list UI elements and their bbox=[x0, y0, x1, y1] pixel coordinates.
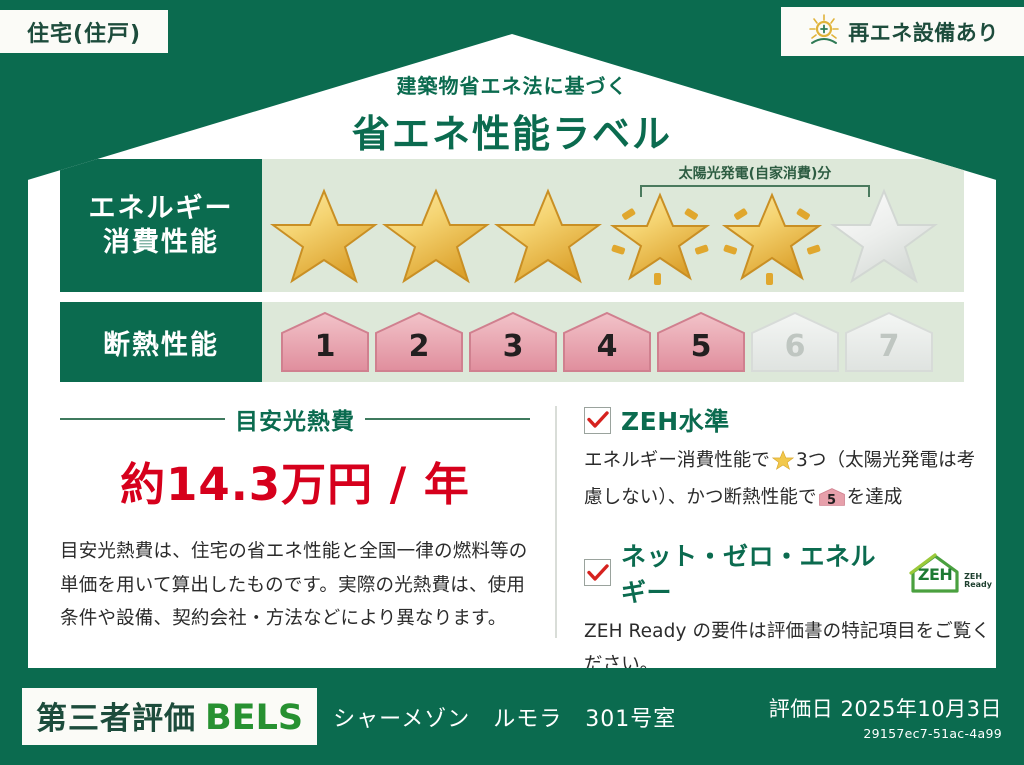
insulation-rating: 1 2 3 bbox=[262, 302, 964, 382]
zeh-standard-section: ZEH水準 エネルギー消費性能で 3つ（太陽光発電は考慮しない）、かつ断熱性能で… bbox=[584, 402, 992, 515]
house-level-icon-value: 5 bbox=[819, 489, 845, 512]
net-zero-energy-section: ネット・ゼロ・エネルギー ZEH ZEH Ready bbox=[584, 537, 992, 682]
utility-cost-heading: 目安光熱費 bbox=[60, 402, 530, 436]
insulation-level-item: 4 bbox=[562, 311, 652, 373]
star-rating bbox=[270, 181, 938, 285]
check-icon bbox=[587, 411, 609, 429]
bels-badge: 第三者評価 BELS bbox=[22, 688, 317, 745]
utility-cost-heading-label: 目安光熱費 bbox=[235, 402, 355, 436]
insulation-level-item: 1 bbox=[280, 311, 370, 373]
star-filled bbox=[494, 181, 602, 285]
heading-rule-left bbox=[60, 418, 225, 420]
insulation-level-item: 6 bbox=[750, 311, 840, 373]
utility-cost-value: 約14.3万円 / 年 bbox=[60, 448, 530, 513]
insulation-level-number: 7 bbox=[844, 329, 934, 364]
column-divider bbox=[555, 406, 557, 638]
insulation-level-number: 1 bbox=[280, 329, 370, 364]
renewable-equipment-label: 再エネ設備あり bbox=[848, 17, 999, 47]
star-filled bbox=[382, 181, 490, 285]
insulation-level-item-achieved: 5 bbox=[656, 311, 746, 373]
property-name: シャーメゾン ルモラ 301号室 bbox=[333, 701, 676, 733]
insulation-performance-row: 断熱性能 bbox=[60, 302, 964, 382]
insulation-performance-label: 断熱性能 bbox=[60, 302, 262, 382]
zeh-ready-caption: ZEH Ready bbox=[964, 573, 992, 594]
housing-type-tag: 住宅(住戸) bbox=[0, 8, 170, 55]
zeh-standard-checkbox[interactable] bbox=[584, 407, 611, 434]
insulation-level-number: 5 bbox=[656, 329, 746, 364]
net-zero-energy-checkbox[interactable] bbox=[584, 559, 611, 586]
zeh-house-icon: ZEH bbox=[908, 552, 962, 594]
insulation-level-number: 4 bbox=[562, 329, 652, 364]
energy-consumption-rating: 太陽光発電(自家消費)分 bbox=[262, 159, 964, 292]
star-empty bbox=[830, 181, 938, 285]
star-filled bbox=[270, 181, 378, 285]
footer-bar: 第三者評価 BELS シャーメゾン ルモラ 301号室 評価日 2025年10月… bbox=[0, 668, 1024, 765]
insulation-level-number: 3 bbox=[468, 329, 558, 364]
certification-block: ZEH水準 エネルギー消費性能で 3つ（太陽光発電は考慮しない）、かつ断熱性能で… bbox=[584, 402, 992, 682]
bels-badge-en-label: BELS bbox=[205, 698, 303, 738]
evaluation-date: 評価日 2025年10月3日 bbox=[769, 693, 1002, 723]
zeh-standard-body-part3: を達成 bbox=[847, 487, 903, 508]
title-block: 建築物省エネ法に基づく 省エネ性能ラベル bbox=[28, 70, 996, 158]
housing-type-label: 住宅(住戸) bbox=[27, 16, 141, 48]
title-subtitle: 建築物省エネ法に基づく bbox=[28, 70, 996, 99]
bels-badge-jp-label: 第三者評価 bbox=[36, 693, 196, 738]
house-level-icon: 5 bbox=[819, 487, 845, 507]
label-card: 建築物省エネ法に基づく 省エネ性能ラベル エネルギー 消費性能 太陽光発電(自家… bbox=[28, 34, 996, 668]
insulation-level-scale: 1 2 3 bbox=[280, 311, 934, 373]
heading-rule-right bbox=[365, 418, 530, 420]
footer-meta: 評価日 2025年10月3日 29157ec7-51ac-4a99 bbox=[769, 693, 1002, 741]
insulation-level-item: 3 bbox=[468, 311, 558, 373]
zeh-ready-logo: ZEH ZEH Ready bbox=[908, 552, 992, 594]
energy-consumption-row: エネルギー 消費性能 太陽光発電(自家消費)分 bbox=[60, 159, 964, 292]
page-title: 省エネ性能ラベル bbox=[28, 103, 996, 158]
evaluation-id: 29157ec7-51ac-4a99 bbox=[769, 726, 1002, 741]
zeh-standard-body-part1: エネルギー消費性能で bbox=[584, 450, 770, 471]
star-filled-solar bbox=[718, 181, 826, 285]
utility-cost-block: 目安光熱費 約14.3万円 / 年 目安光熱費は、住宅の省エネ性能と全国一律の燃… bbox=[60, 402, 530, 636]
net-zero-energy-title: ネット・ゼロ・エネルギー bbox=[621, 537, 892, 609]
insulation-level-number: 2 bbox=[374, 329, 464, 364]
zeh-ready-line2: Ready bbox=[964, 581, 992, 589]
check-icon bbox=[587, 564, 609, 582]
zeh-standard-title: ZEH水準 bbox=[621, 402, 730, 438]
insulation-level-item: 7 bbox=[844, 311, 934, 373]
star-filled-solar bbox=[606, 181, 714, 285]
zeh-standard-header: ZEH水準 bbox=[584, 402, 992, 438]
star-icon bbox=[772, 454, 794, 475]
zeh-logo-text: ZEH bbox=[908, 565, 962, 584]
insulation-level-item: 2 bbox=[374, 311, 464, 373]
zeh-standard-body: エネルギー消費性能で 3つ（太陽光発電は考慮しない）、かつ断熱性能で 5 を達成 bbox=[584, 445, 992, 515]
solar-sun-icon bbox=[806, 12, 842, 52]
energy-consumption-label: エネルギー 消費性能 bbox=[60, 159, 262, 292]
energy-performance-label: 住宅(住戸) 再エネ設備あり 建築物 bbox=[0, 0, 1024, 765]
renewable-equipment-tag: 再エネ設備あり bbox=[779, 5, 1024, 58]
net-zero-energy-header: ネット・ゼロ・エネルギー ZEH ZEH Ready bbox=[584, 537, 992, 609]
insulation-level-number: 6 bbox=[750, 329, 840, 364]
utility-cost-description: 目安光熱費は、住宅の省エネ性能と全国一律の燃料等の単価を用いて算出したものです。… bbox=[60, 535, 530, 636]
